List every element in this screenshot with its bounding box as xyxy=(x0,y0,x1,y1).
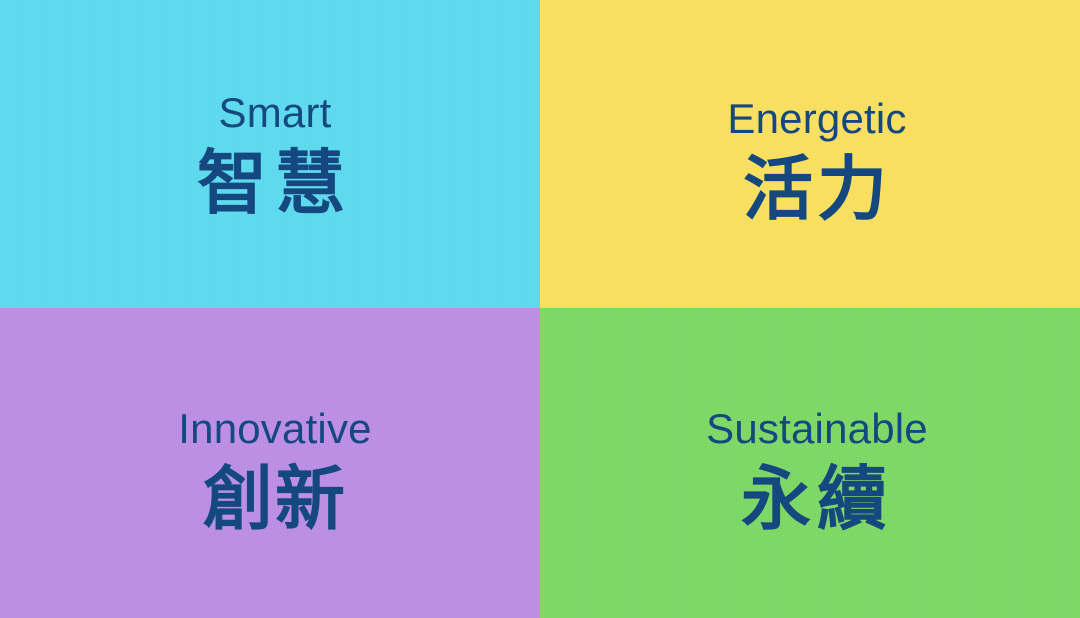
quadrant-energetic-label-en: Energetic xyxy=(554,98,1080,140)
quadrant-sustainable[interactable]: Sustainable 永續 xyxy=(540,308,1080,618)
quadrant-smart-label-zh: 智慧 xyxy=(10,146,540,222)
quadrant-innovative-content: Innovative 創新 xyxy=(0,408,540,538)
quadrant-smart[interactable]: Smart 智慧 xyxy=(0,0,540,308)
quadrant-innovative-label-en: Innovative xyxy=(10,408,540,450)
quadrant-smart-label-en: Smart xyxy=(10,92,540,134)
quadrant-sustainable-content: Sustainable 永續 xyxy=(540,408,1080,538)
quadrant-energetic-label-zh: 活力 xyxy=(554,152,1080,228)
quadrant-innovative[interactable]: Innovative 創新 xyxy=(0,308,540,618)
quadrant-sustainable-label-en: Sustainable xyxy=(554,408,1080,450)
quadrant-grid: Smart 智慧 Energetic 活力 Innovative 創新 Sust… xyxy=(0,0,1080,618)
quadrant-innovative-label-zh: 創新 xyxy=(10,462,540,538)
quadrant-energetic-content: Energetic 活力 xyxy=(540,98,1080,228)
quadrant-smart-content: Smart 智慧 xyxy=(0,92,540,222)
quadrant-sustainable-label-zh: 永續 xyxy=(554,462,1080,538)
quadrant-energetic[interactable]: Energetic 活力 xyxy=(540,0,1080,308)
